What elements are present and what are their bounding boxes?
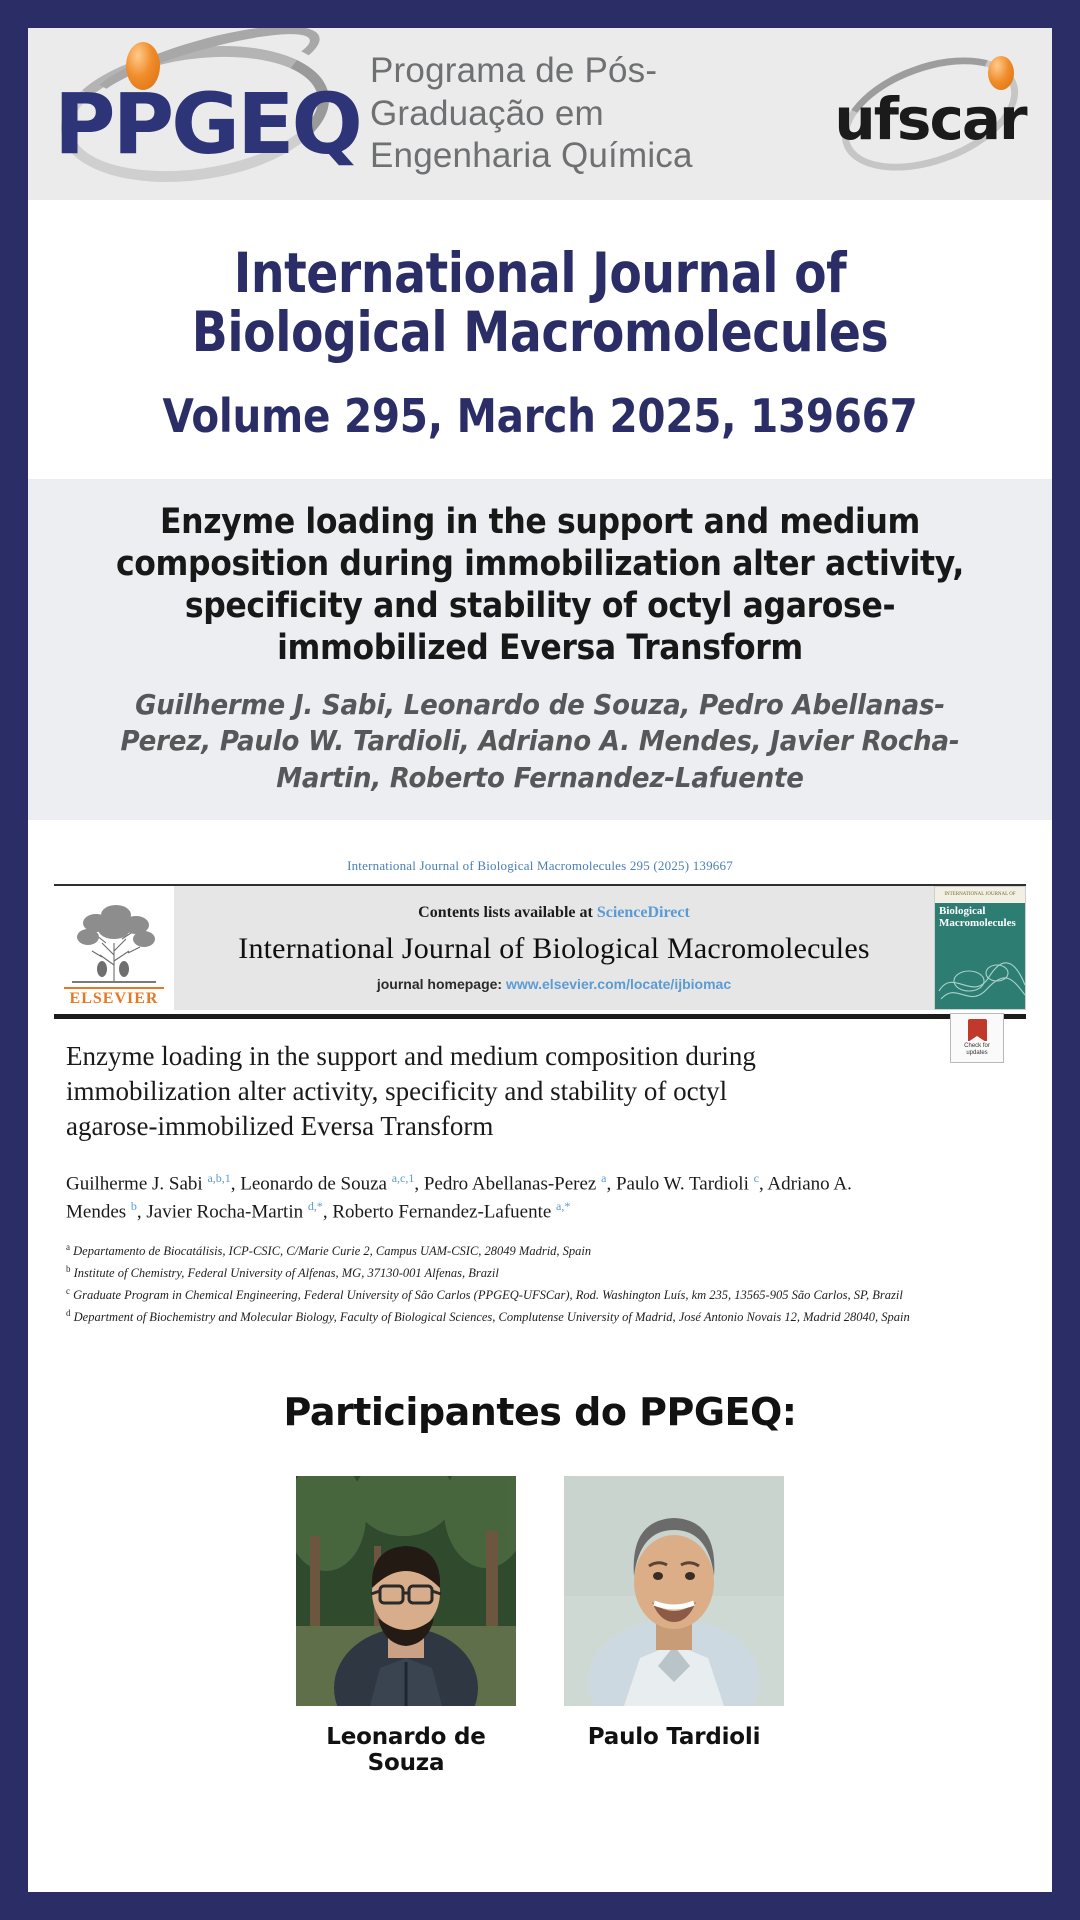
- poster-root: PPGEQ Programa de Pós-Graduação em Engen…: [0, 0, 1080, 1920]
- crossmark-label-line-1: Check for: [964, 1043, 990, 1050]
- paper-running-head: International Journal of Biological Macr…: [42, 858, 1038, 874]
- affiliation-line: a Departamento de Biocatálisis, ICP-CSIC…: [66, 1240, 1014, 1262]
- affiliation-line: b Institute of Chemistry, Federal Univer…: [66, 1262, 1014, 1284]
- affiliation-line: d Department of Biochemistry and Molecul…: [66, 1306, 1014, 1328]
- ppgeq-logo: PPGEQ: [54, 34, 354, 194]
- elsevier-logo: ELSEVIER: [54, 886, 174, 1010]
- program-name: Programa de Pós-Graduação em Engenharia …: [370, 50, 824, 178]
- affiliation-line: c Graduate Program in Chemical Engineeri…: [66, 1284, 1014, 1306]
- poster-card: PPGEQ Programa de Pós-Graduação em Engen…: [28, 28, 1052, 1892]
- banner-center: Contents lists available at ScienceDirec…: [174, 886, 934, 1010]
- journal-title: International Journal of Biological Macr…: [134, 244, 946, 363]
- crossmark-label: Check for updates: [964, 1043, 990, 1057]
- journal-banner: ELSEVIER Contents lists available at Sci…: [54, 886, 1026, 1010]
- ppgeq-logo-text: PPGEQ: [54, 82, 354, 166]
- paper-title: Enzyme loading in the support and medium…: [66, 1039, 806, 1144]
- contents-line: Contents lists available at ScienceDirec…: [418, 904, 690, 922]
- journal-volume-line: Volume 295, March 2025, 139667: [125, 389, 956, 443]
- participant-photo: [564, 1476, 784, 1706]
- article-heading-block: Enzyme loading in the support and medium…: [28, 479, 1052, 820]
- cover-top-banner: INTERNATIONAL JOURNAL OF: [935, 887, 1025, 903]
- participant-card: Paulo Tardioli: [564, 1476, 784, 1776]
- paper-body: Check for updates Enzyme loading in the …: [42, 1019, 1038, 1328]
- participant-photo: [296, 1476, 516, 1706]
- crossmark-check-for-updates-badge[interactable]: Check for updates: [950, 1013, 1004, 1063]
- crossmark-label-line-2: updates: [964, 1050, 990, 1057]
- contents-prefix: Contents lists available at: [418, 904, 597, 921]
- participants-title: Participantes do PPGEQ:: [48, 1390, 1032, 1434]
- paper-affiliations: a Departamento de Biocatálisis, ICP-CSIC…: [66, 1240, 1014, 1328]
- elsevier-tree-icon: [66, 895, 162, 987]
- journal-homepage-line: journal homepage: www.elsevier.com/locat…: [377, 976, 731, 992]
- homepage-prefix: journal homepage:: [377, 976, 506, 992]
- article-authors: Guilherme J. Sabi, Leonardo de Souza, Pe…: [92, 687, 989, 796]
- program-line-1: Programa de Pós-Graduação em: [370, 50, 824, 135]
- cover-title: Biological Macromolecules: [935, 903, 1025, 929]
- participant-card: Leonardo de Souza: [296, 1476, 516, 1776]
- ufscar-logo: ufscar: [824, 54, 1034, 174]
- participant-name: Paulo Tardioli: [564, 1724, 784, 1750]
- homepage-url-link[interactable]: www.elsevier.com/locate/ijbiomac: [506, 976, 731, 992]
- sciencedirect-link[interactable]: ScienceDirect: [597, 904, 690, 921]
- paper-scan: International Journal of Biological Macr…: [28, 820, 1052, 1338]
- ufscar-logo-text: ufscar: [830, 90, 1030, 148]
- participants-section: Participantes do PPGEQ:: [28, 1338, 1052, 1892]
- banner-journal-title: International Journal of Biological Macr…: [238, 932, 869, 966]
- cover-title-line-1: Biological: [939, 906, 1021, 918]
- cover-title-line-2: Macromolecules: [939, 918, 1021, 930]
- journal-heading-block: International Journal of Biological Macr…: [28, 200, 1052, 479]
- logo-header-bar: PPGEQ Programa de Pós-Graduação em Engen…: [28, 28, 1052, 200]
- article-title: Enzyme loading in the support and medium…: [106, 501, 974, 669]
- program-line-2: Engenharia Química: [370, 135, 824, 178]
- journal-cover-thumbnail: INTERNATIONAL JOURNAL OF Biological Macr…: [934, 886, 1026, 1010]
- participants-list: Leonardo de Souza: [48, 1476, 1032, 1776]
- cover-artwork: [935, 947, 1026, 1009]
- paper-authors: Guilherme J. Sabi a,b,1, Leonardo de Sou…: [66, 1170, 886, 1226]
- participant-name: Leonardo de Souza: [296, 1724, 516, 1776]
- crossmark-icon: [968, 1019, 987, 1041]
- elsevier-wordmark: ELSEVIER: [64, 987, 164, 1008]
